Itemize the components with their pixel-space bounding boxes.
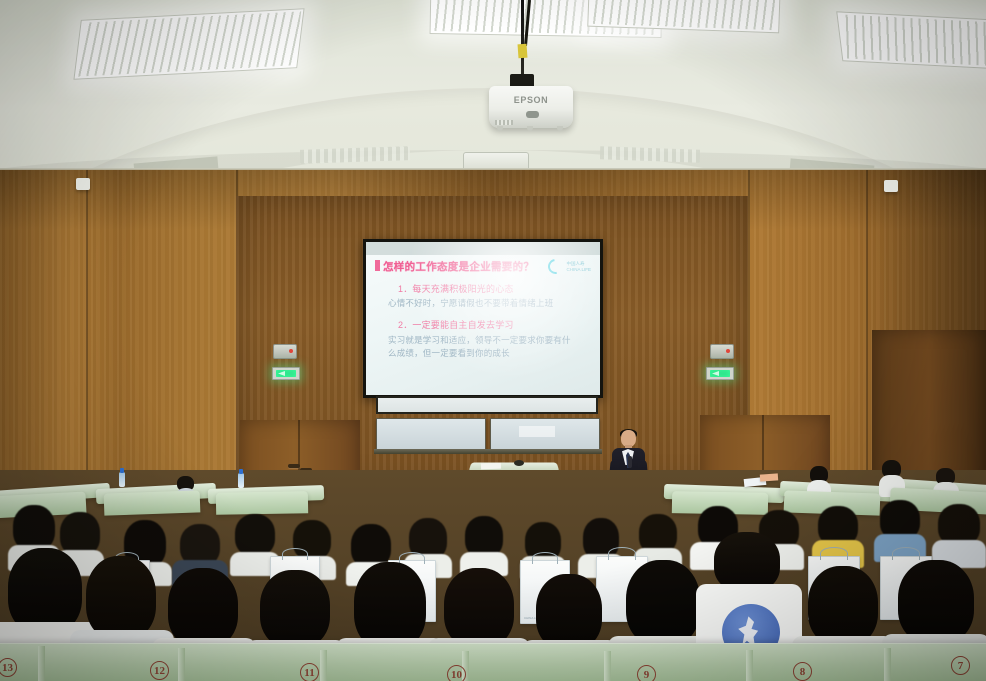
hair xyxy=(808,566,878,646)
slide-logo-text-line2: CHINA LIFE xyxy=(566,267,591,273)
whiteboard-upper-panel xyxy=(376,396,598,414)
slide-logo-text: 中国人寿 CHINA LIFE xyxy=(566,261,591,272)
tote-bag-handle xyxy=(282,548,308,560)
hair xyxy=(536,574,602,650)
seat-divider-2 xyxy=(178,648,185,681)
epson-projector: EPSON xyxy=(489,86,573,128)
seat-back-mid-3[interactable] xyxy=(216,491,308,515)
audience-member-mid-9 xyxy=(462,516,506,568)
projector-lens xyxy=(526,111,539,118)
seat-back-mid-2[interactable] xyxy=(104,490,201,515)
seat-number-7: 7 xyxy=(951,656,970,675)
exit-sign-glow xyxy=(276,370,296,377)
whiteboard-panel-right xyxy=(490,418,600,450)
light-louvers xyxy=(590,0,777,30)
slide-title-accent-bar xyxy=(375,260,380,271)
exit-sign-left xyxy=(272,367,300,380)
seat-number-12: 12 xyxy=(150,661,169,680)
podium-papers xyxy=(481,463,501,470)
seat-number-9: 9 xyxy=(637,665,656,681)
lecture-hall-photo: EPSON 怎样的工作态 xyxy=(0,0,986,681)
hair xyxy=(626,560,700,646)
exit-sign-right xyxy=(706,367,734,380)
projection-screen-frame: 怎样的工作态度是企业需要的？ 中国人寿 CHINA LIFE 1．每天充满积极阳… xyxy=(363,239,603,398)
wall-spotlight-left xyxy=(76,178,90,190)
seat-divider-3 xyxy=(320,650,327,681)
water-bottle-desk-2 xyxy=(119,472,125,487)
slide-logo: 中国人寿 CHINA LIFE xyxy=(548,259,591,274)
seat-divider-7 xyxy=(884,648,891,681)
seat-number-10: 10 xyxy=(447,665,466,681)
hair xyxy=(168,568,238,648)
hair xyxy=(714,532,780,592)
slide-point-1-heading: 1．每天充满积极阳光的心态 xyxy=(398,282,514,295)
tote-bag-handle xyxy=(608,547,636,560)
projection-screen: 怎样的工作态度是企业需要的？ 中国人寿 CHINA LIFE 1．每天充满积极阳… xyxy=(366,242,600,395)
wall-spotlight-right xyxy=(884,180,898,192)
front-seat-row[interactable] xyxy=(0,643,986,681)
slide-title: 怎样的工作态度是企业需要的？ xyxy=(383,259,534,274)
slide-point-1-body-line-1: 心情不好时，宁愿请假也不要带着情绪上班 xyxy=(388,297,553,309)
folder-on-desk xyxy=(760,473,778,481)
projector-vent xyxy=(495,120,513,125)
seat-number-11: 11 xyxy=(300,663,319,681)
tote-bag-handle xyxy=(820,547,848,560)
whiteboard-sheen xyxy=(519,426,555,437)
ceiling-light-panel-1 xyxy=(73,8,304,80)
cable-tape-marker xyxy=(518,44,528,59)
hair xyxy=(354,562,426,650)
hair xyxy=(86,556,156,640)
tote-bag-handle xyxy=(892,547,920,560)
smoke-detector-left xyxy=(273,344,297,359)
crescent-logo-icon xyxy=(546,256,567,277)
slide-point-2-heading: 2．一定要能自主自发去学习 xyxy=(398,318,514,331)
seat-divider-5 xyxy=(604,651,611,681)
seat-divider-1 xyxy=(38,646,45,681)
seat-number-8: 8 xyxy=(793,662,812,681)
water-bottle-desk xyxy=(238,473,244,488)
whiteboard-marker-rail xyxy=(374,449,602,454)
slide-point-2-body-line-2: 么成绩，但一定要看到你的成长 xyxy=(388,347,510,359)
podium-microphone xyxy=(514,460,524,466)
whiteboard-panel-left xyxy=(376,418,486,450)
slide-top-band xyxy=(366,242,600,255)
seat-divider-6 xyxy=(746,650,753,681)
handheld-microphone xyxy=(628,456,632,468)
light-louvers xyxy=(840,14,986,67)
smoke-detector-right xyxy=(710,344,734,359)
ceiling-light-panel-4 xyxy=(836,11,986,70)
light-louvers xyxy=(77,11,301,76)
hair xyxy=(898,560,974,644)
door-handle-left[interactable] xyxy=(288,464,300,468)
hair xyxy=(260,570,330,648)
tote-bag-handle xyxy=(532,552,558,564)
hair xyxy=(235,514,275,556)
projector-brand-label: EPSON xyxy=(489,95,573,105)
audience-member-mid-17 xyxy=(934,504,984,564)
hair xyxy=(444,568,514,648)
slide-point-2-body-line-1: 实习就是学习和适应，领导不一定要求你要有什 xyxy=(388,334,571,346)
exit-sign-glow xyxy=(710,370,730,377)
